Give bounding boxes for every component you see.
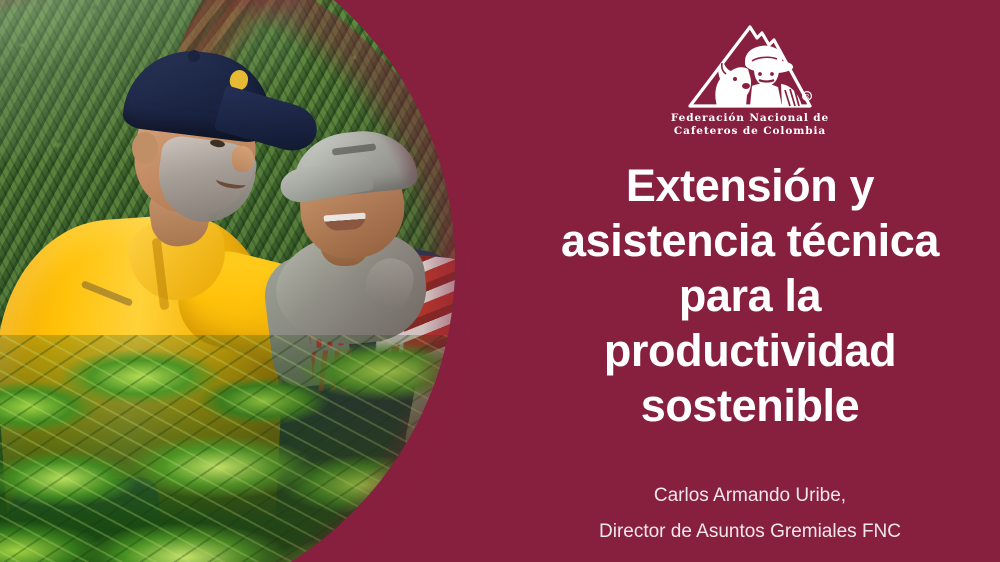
farmer-cap-button [188,50,200,62]
mule-eye [733,77,737,81]
farmer-nose [232,146,254,172]
mule-nostril [742,83,750,89]
slide-title: Extensión y asistencia técnica para la p… [530,158,970,433]
photo-region [0,0,500,562]
farmer-ear [132,132,158,164]
coffee-leaf-veins [0,335,500,562]
fnc-logo-wordmark: Federación Nacional de Cafeteros de Colo… [671,112,829,137]
face-eye-right [770,72,774,76]
fnc-logo-mark: R [686,24,814,110]
svg-text:R: R [805,94,810,101]
presentation-slide: R Federación Nacional de Cafeteros de Co… [0,0,1000,562]
poncho-icon [750,84,782,106]
content-panel: R Federación Nacional de Cafeteros de Co… [500,0,1000,562]
face-eye-left [758,72,762,76]
slide-subtitle: Carlos Armando Uribe, Director de Asunto… [530,478,970,550]
fnc-logo: R Federación Nacional de Cafeteros de Co… [668,24,832,142]
coffee-farmers-photo [0,0,500,562]
juan-valdez-face-icon [754,69,779,86]
